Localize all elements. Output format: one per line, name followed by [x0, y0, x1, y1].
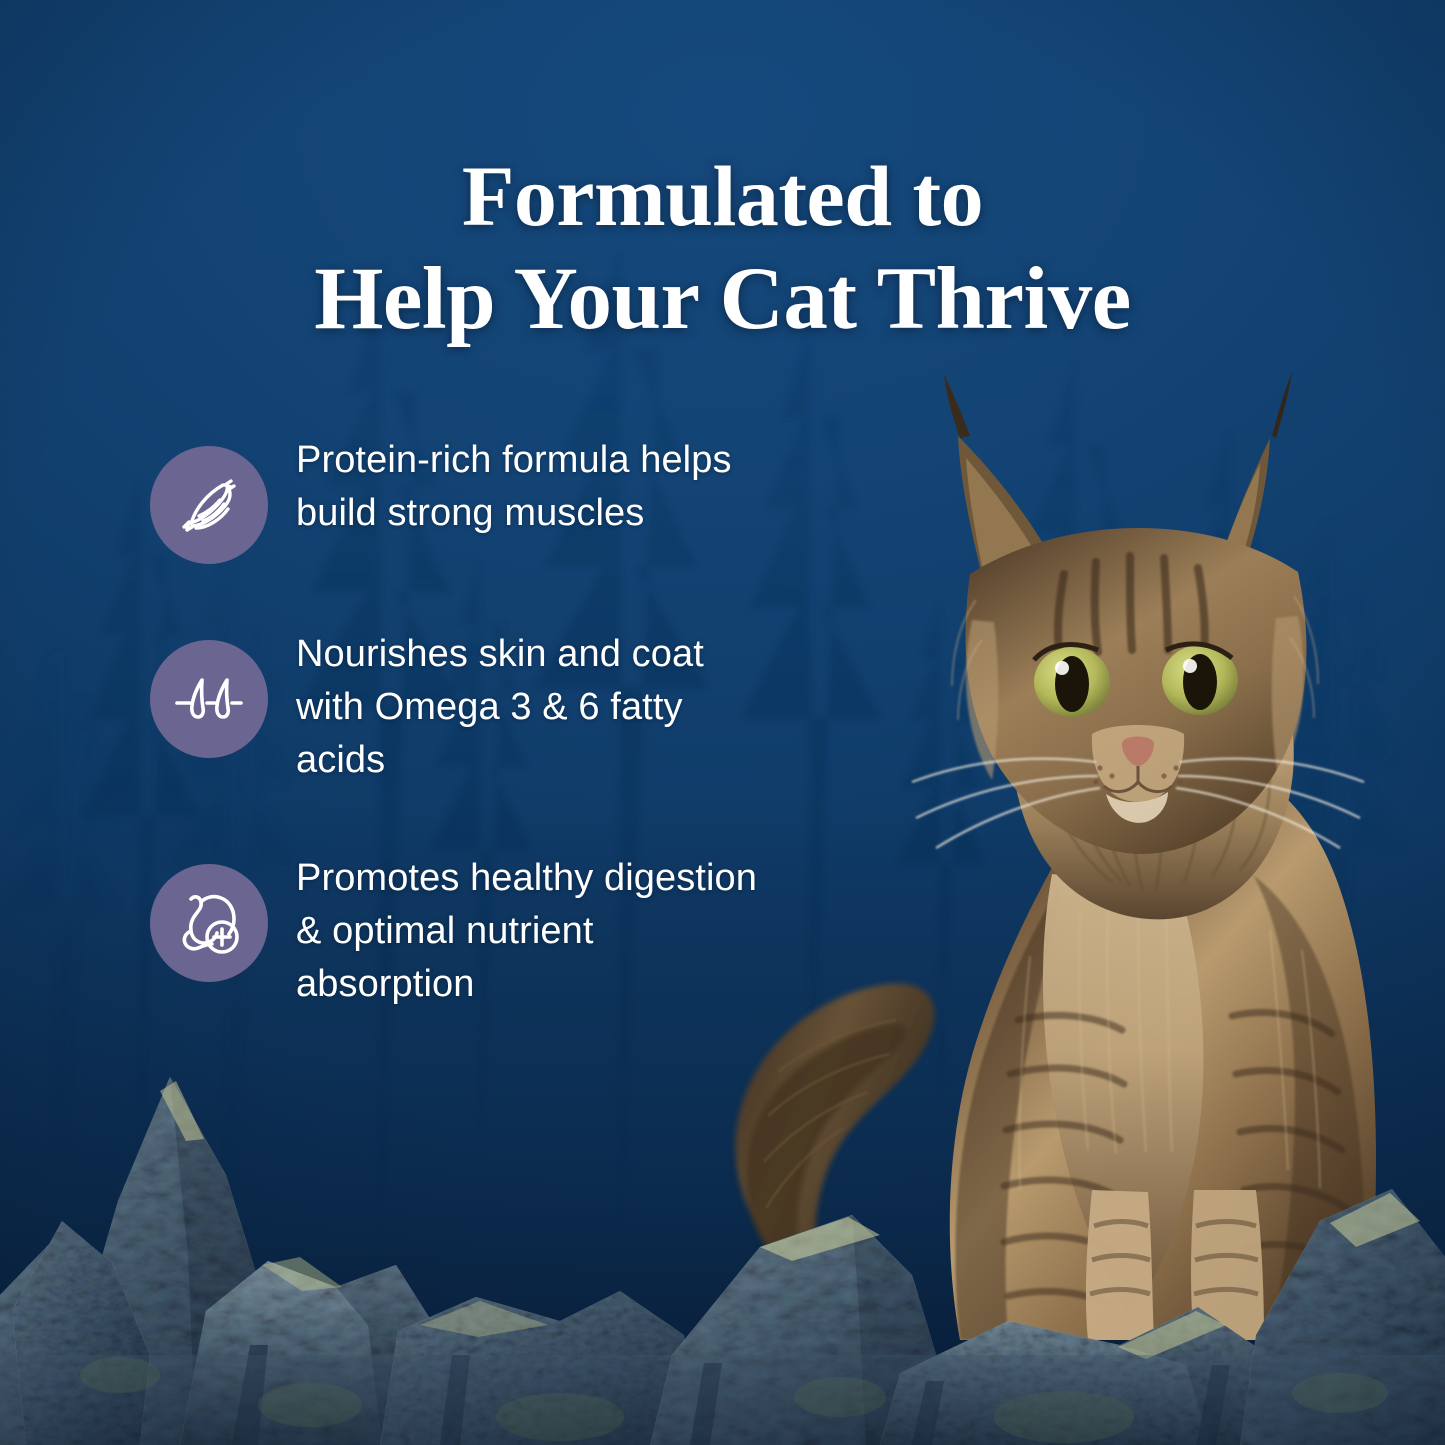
benefit-text: Nourishes skin and coat with Omega 3 & 6…	[296, 626, 760, 788]
headline-line-1: Formulated to	[60, 146, 1385, 247]
stomach-plus-icon	[150, 864, 268, 982]
muscle-fiber-icon	[150, 446, 268, 564]
benefit-text: Promotes healthy digestion & optimal nut…	[296, 850, 760, 1012]
rock-foreground	[0, 1025, 1445, 1445]
benefit-item: Promotes healthy digestion & optimal nut…	[150, 850, 760, 1012]
headline: Formulated to Help Your Cat Thrive	[0, 146, 1445, 352]
headline-line-2: Help Your Cat Thrive	[60, 247, 1385, 352]
benefit-text: Protein-rich formula helps build strong …	[296, 432, 760, 540]
benefit-item: Protein-rich formula helps build strong …	[150, 432, 760, 564]
benefit-list: Protein-rich formula helps build strong …	[150, 432, 760, 1011]
promo-banner: Formulated to Help Your Cat Thrive Prote…	[0, 0, 1445, 1445]
benefit-item: Nourishes skin and coat with Omega 3 & 6…	[150, 626, 760, 788]
hair-follicle-skin-icon	[150, 640, 268, 758]
